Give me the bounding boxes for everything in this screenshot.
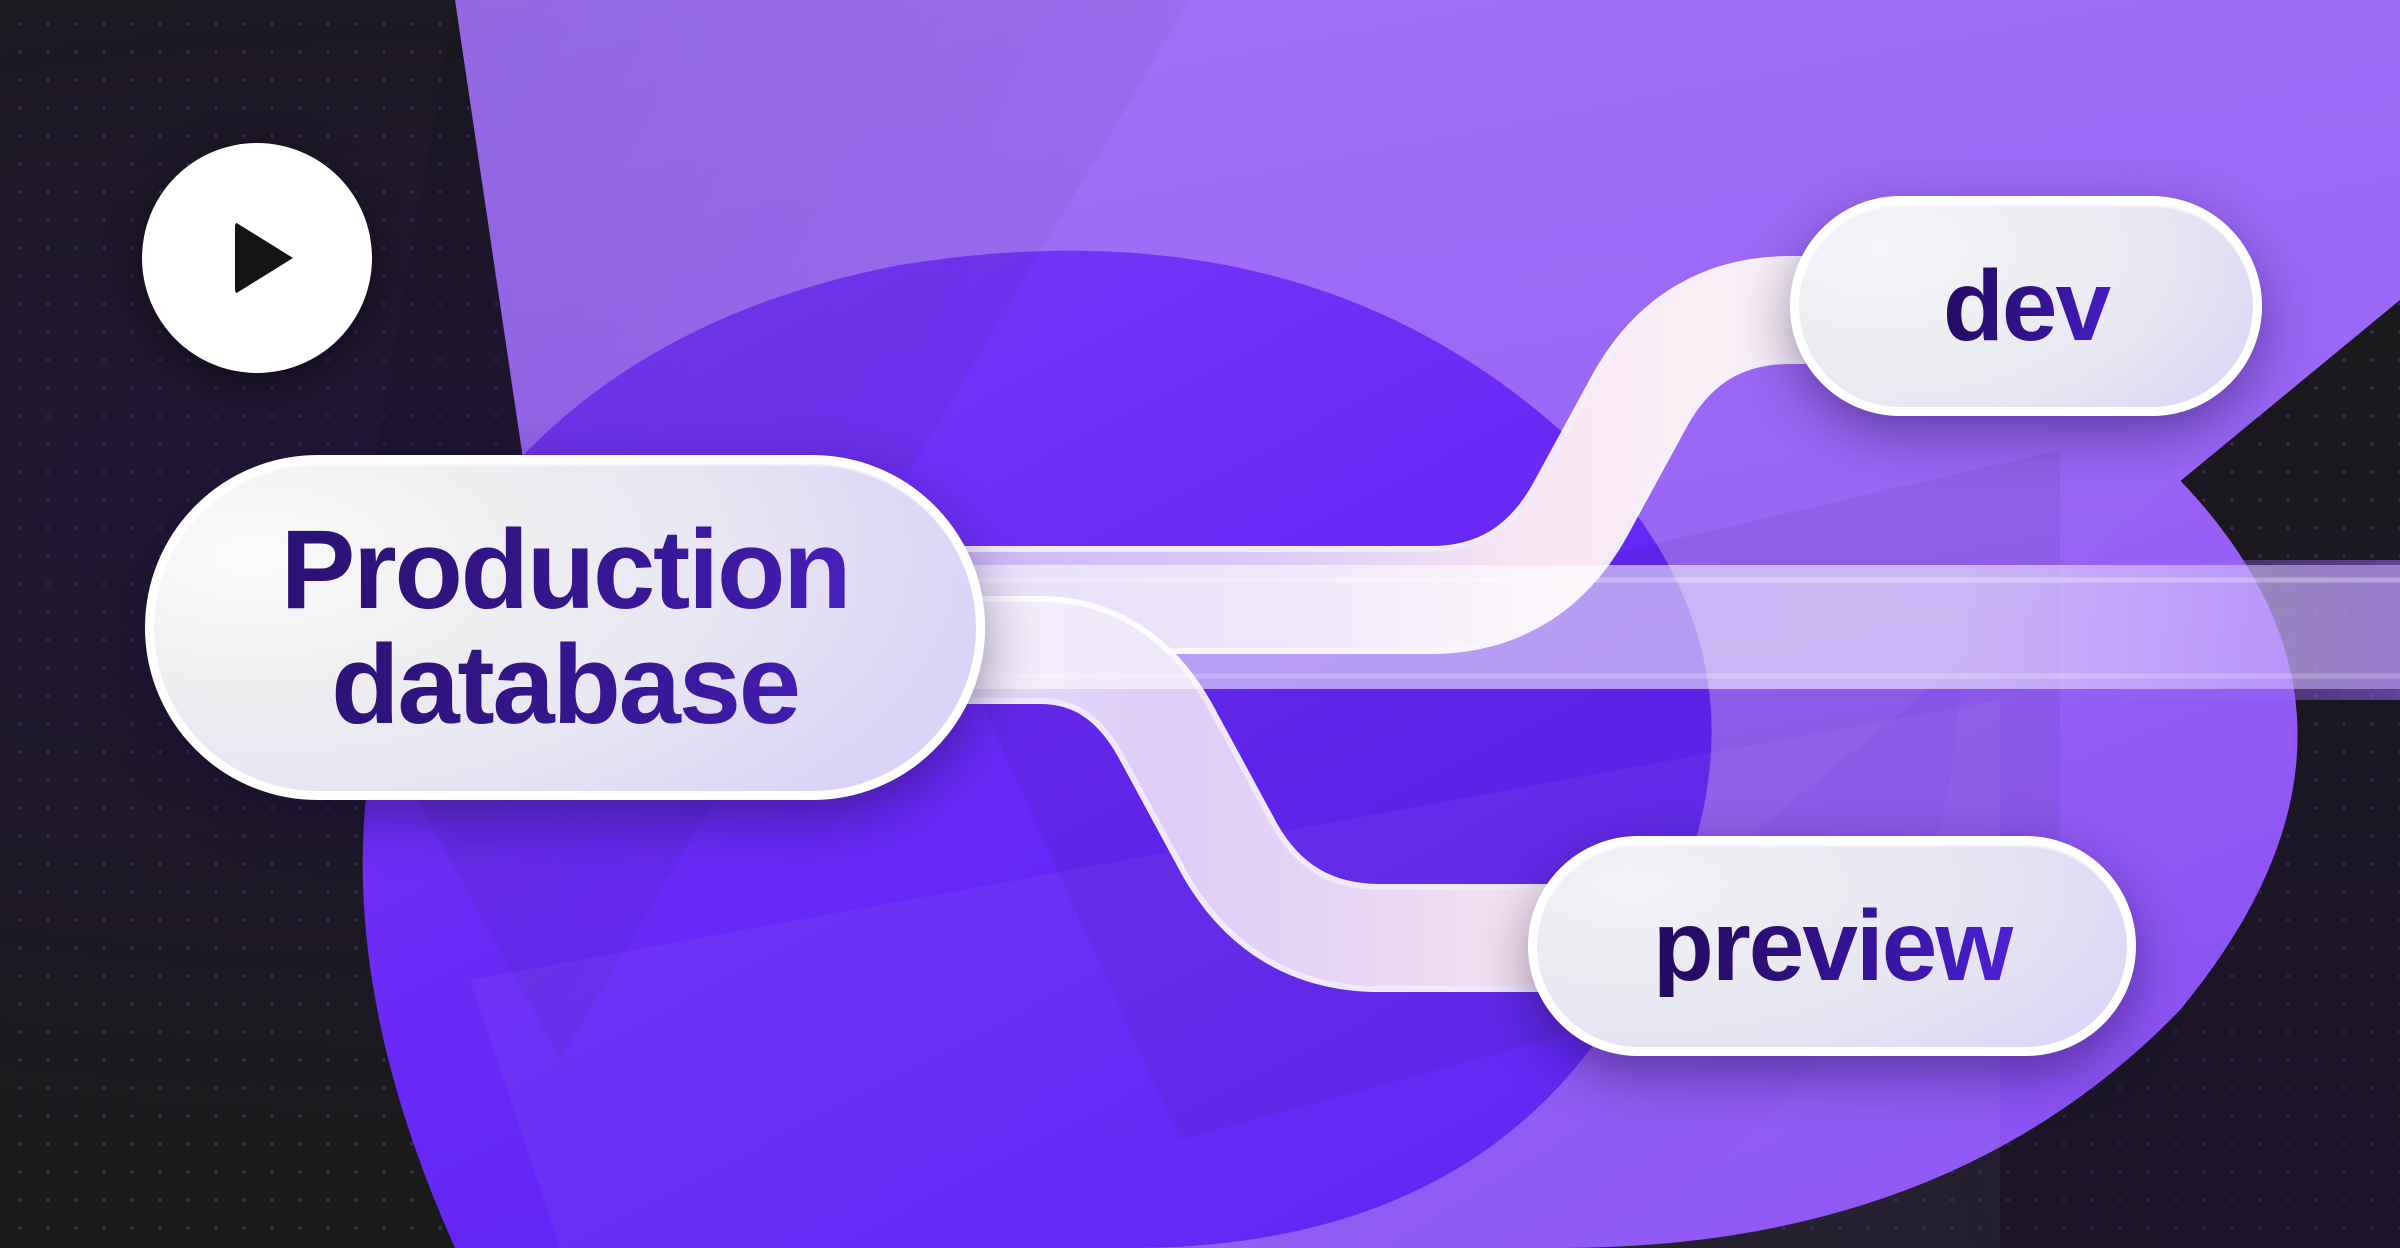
illustration-canvas: Productiondatabase dev preview <box>0 0 2400 1248</box>
node-dev[interactable]: dev <box>1790 196 2262 416</box>
node-preview[interactable]: preview <box>1528 836 2136 1056</box>
play-button[interactable] <box>142 143 372 373</box>
node-preview-label: preview <box>1641 895 2023 997</box>
node-dev-label: dev <box>1931 255 2121 357</box>
node-production-database-label: Productiondatabase <box>261 513 870 741</box>
node-production-database[interactable]: Productiondatabase <box>145 455 985 800</box>
play-icon <box>235 222 293 294</box>
